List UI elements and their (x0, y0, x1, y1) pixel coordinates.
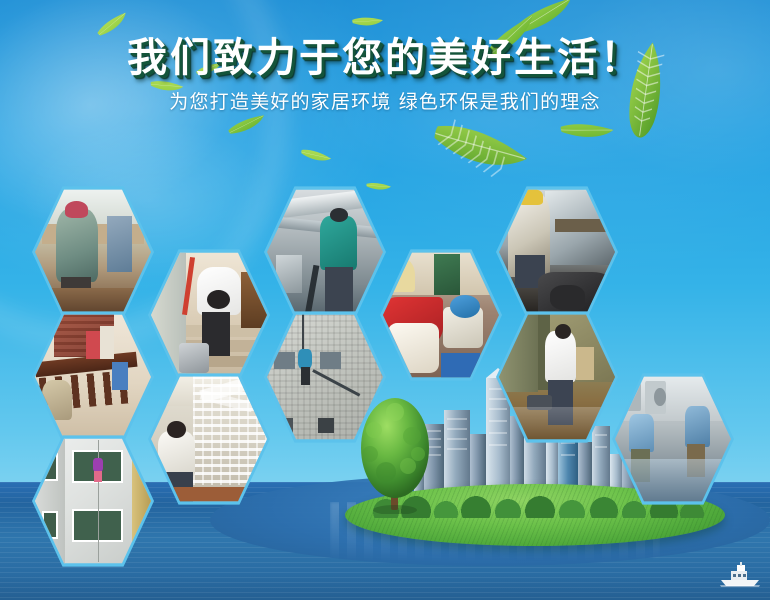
building-exterior-art (35, 438, 151, 565)
hex-tile-office-floor-scrub[interactable] (496, 310, 618, 444)
banner-stage: 我们致力于您的美好生活！ 为您打造美好的家居环境 绿色环保是我们的理念 (0, 0, 770, 600)
hex-tile-stair-mopping-photo (151, 252, 267, 379)
hex-tile-building-exterior-photo (35, 438, 151, 565)
hex-tile-kitchen-hood-cleaning-photo (499, 189, 615, 316)
hex-tile-handrail-painting[interactable] (32, 310, 154, 444)
office-scrub-art (499, 314, 615, 441)
hex-tile-chandelier-cleaning-photo (151, 376, 267, 503)
hex-tile-rooftop-cleaning[interactable] (612, 372, 734, 506)
chandelier-art (151, 376, 267, 503)
hex-tile-renovation-worker[interactable] (32, 185, 154, 319)
worker-bench-art (35, 189, 151, 316)
hex-tile-rooftop-cleaning-photo (615, 376, 731, 503)
hex-tile-stair-mopping[interactable] (148, 248, 270, 382)
hex-tile-renovation-worker-photo (35, 189, 151, 316)
hex-tile-building-exterior[interactable] (32, 434, 154, 568)
hex-tile-facade-rope-access[interactable] (264, 310, 386, 444)
rooftop-art (615, 376, 731, 503)
hex-tile-duct-cleaning-photo (267, 189, 383, 316)
handrail-art (35, 314, 151, 441)
hex-tile-floor-polishing-photo (383, 252, 499, 379)
facade-rope-art (267, 314, 383, 441)
hex-tile-floor-polishing[interactable] (380, 248, 502, 382)
banner-subtitle: 为您打造美好的家居环境 绿色环保是我们的理念 (0, 90, 770, 114)
hex-tile-handrail-painting-photo (35, 314, 151, 441)
banner-title: 我们致力于您的美好生活！ (0, 36, 770, 80)
duct-ceiling-art (267, 189, 383, 316)
stair-mop-art (151, 252, 267, 379)
hood-grease-art (499, 189, 615, 316)
hex-tile-chandelier-cleaning[interactable] (148, 372, 270, 506)
hex-tile-office-floor-scrub-photo (499, 314, 615, 441)
hex-tile-duct-cleaning[interactable] (264, 185, 386, 319)
floor-polish-art (383, 252, 499, 379)
hex-tile-kitchen-hood-cleaning[interactable] (496, 185, 618, 319)
hex-tile-facade-rope-access-photo (267, 314, 383, 441)
banner-headings: 我们致力于您的美好生活！ 为您打造美好的家居环境 绿色环保是我们的理念 (0, 0, 770, 114)
